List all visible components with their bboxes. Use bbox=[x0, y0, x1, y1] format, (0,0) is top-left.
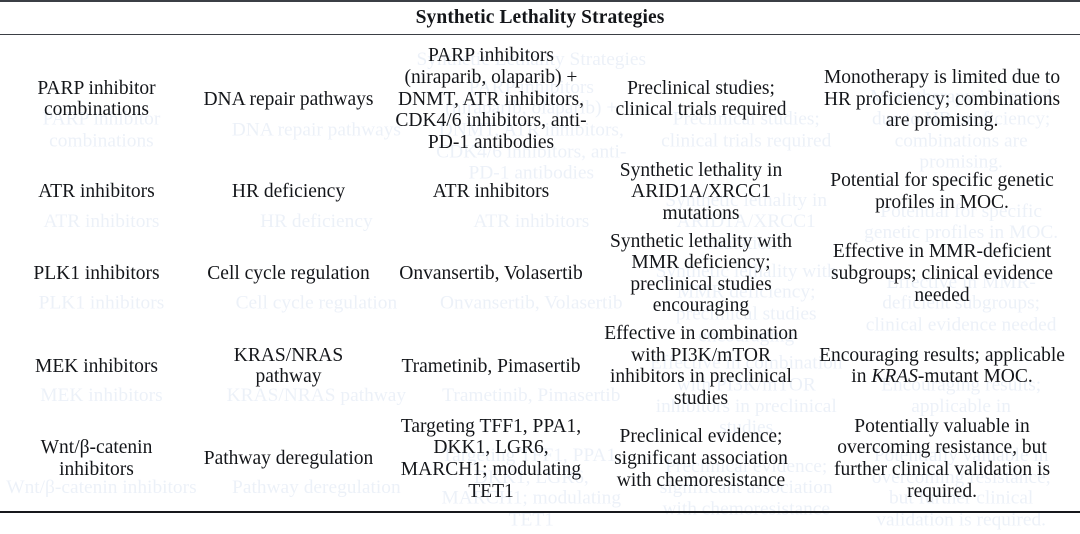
cell-comment: Potential for specific genetic profiles … bbox=[804, 157, 1080, 228]
table-sheet: Synthetic Lethality Strategies PARP inhi… bbox=[0, 0, 1080, 470]
cell-agents: Onvansertib, Volasertib bbox=[384, 228, 598, 321]
table-row: ATR inhibitors HR deficiency ATR inhibit… bbox=[0, 157, 1080, 228]
comment-gene-italic: KRAS bbox=[871, 366, 918, 387]
synthetic-lethality-table: Synthetic Lethality Strategies PARP inhi… bbox=[0, 2, 1080, 511]
header-spacer bbox=[0, 35, 1080, 42]
table-row: PARP inhibitor combinations DNA repair p… bbox=[0, 42, 1080, 156]
cell-strategy: MEK inhibitors bbox=[0, 320, 193, 413]
cell-agents: Trametinib, Pimasertib bbox=[384, 320, 598, 413]
table-container: Synthetic Lethality Strategies PARP inhi… bbox=[0, 0, 1080, 513]
cell-evidence: Effective in combination with PI3K/mTOR … bbox=[598, 320, 804, 413]
table-body: PARP inhibitor combinations DNA repair p… bbox=[0, 34, 1080, 511]
cell-evidence: Preclinical studies; clinical trials req… bbox=[598, 42, 804, 156]
table-title: Synthetic Lethality Strategies bbox=[0, 2, 1080, 34]
cell-evidence: Preclinical evidence; significant associ… bbox=[598, 413, 804, 506]
cell-pathway: DNA repair pathways bbox=[193, 42, 384, 156]
table-row: Wnt/β-catenin inhibitors Pathway deregul… bbox=[0, 413, 1080, 506]
cell-comment: Monotherapy is limited due to HR profici… bbox=[804, 42, 1080, 156]
table-row: PLK1 inhibitors Cell cycle regulation On… bbox=[0, 228, 1080, 321]
cell-comment: Effective in MMR-deficient subgroups; cl… bbox=[804, 228, 1080, 321]
cell-strategy: ATR inhibitors bbox=[0, 157, 193, 228]
cell-pathway: Cell cycle regulation bbox=[193, 228, 384, 321]
cell-strategy: PARP inhibitor combinations bbox=[0, 42, 193, 156]
table-row: MEK inhibitors KRAS/NRAS pathway Trameti… bbox=[0, 320, 1080, 413]
cell-agents: PARP inhibitors (niraparib, olaparib) + … bbox=[384, 42, 598, 156]
cell-comment: Encouraging results; applicable in KRAS-… bbox=[804, 320, 1080, 413]
cell-pathway: Pathway deregulation bbox=[193, 413, 384, 506]
cell-agents: ATR inhibitors bbox=[384, 157, 598, 228]
cell-pathway: HR deficiency bbox=[193, 157, 384, 228]
cell-evidence: Synthetic lethality with MMR deficiency;… bbox=[598, 228, 804, 321]
cell-strategy: Wnt/β-catenin inhibitors bbox=[0, 413, 193, 506]
cell-comment: Potentially valuable in overcoming resis… bbox=[804, 413, 1080, 506]
table-header: Synthetic Lethality Strategies bbox=[0, 2, 1080, 34]
table-title-row: Synthetic Lethality Strategies bbox=[0, 2, 1080, 34]
cell-strategy: PLK1 inhibitors bbox=[0, 228, 193, 321]
table-bottom-rule bbox=[0, 511, 1080, 513]
comment-suffix: -mutant MOC. bbox=[918, 366, 1033, 387]
cell-evidence: Synthetic lethality in ARID1A/XRCC1 muta… bbox=[598, 157, 804, 228]
cell-pathway: KRAS/NRAS pathway bbox=[193, 320, 384, 413]
cell-agents: Targeting TFF1, PPA1, DKK1, LGR6, MARCH1… bbox=[384, 413, 598, 506]
